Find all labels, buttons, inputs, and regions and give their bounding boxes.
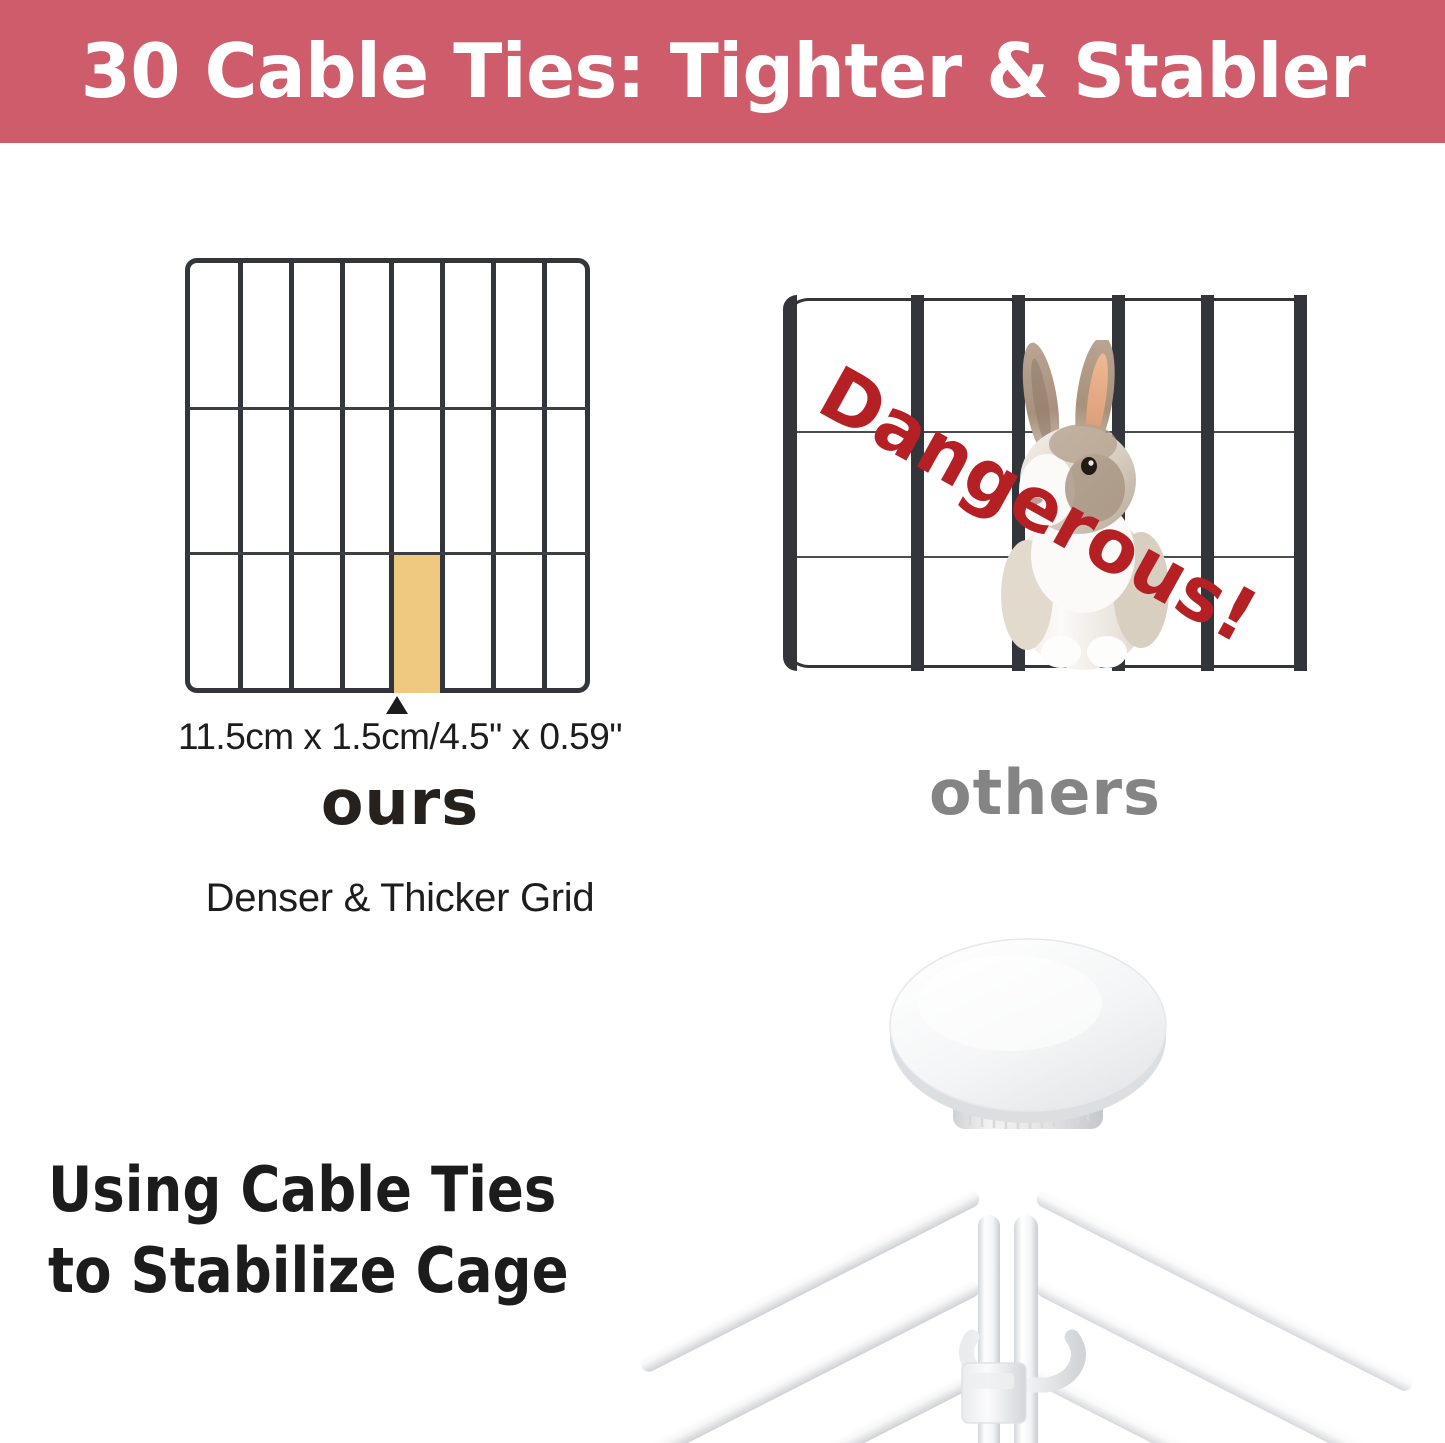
- ours-grid-hline: [188, 407, 587, 410]
- ours-grid-hline: [188, 552, 587, 555]
- up-triangle-arrow-icon: [386, 696, 408, 714]
- bottom-headline-line2: to Stabilize Cage: [48, 1231, 594, 1312]
- others-grid-vbar: [783, 295, 797, 671]
- cage-corner-illustration: [610, 925, 1445, 1443]
- bottom-headline-line1: Using Cable Ties: [48, 1150, 594, 1231]
- others-grid-vbar: [1294, 295, 1307, 671]
- ours-title-label: ours: [145, 772, 655, 834]
- ours-grid-diagram: [185, 258, 590, 693]
- top-banner: 30 Cable Ties: Tighter & Stabler: [0, 0, 1445, 143]
- ours-grid-vline: [491, 261, 496, 690]
- ours-grid-vline: [440, 261, 445, 690]
- ours-grid-vline: [289, 261, 294, 690]
- ours-grid-vline: [542, 261, 547, 690]
- ours-caption-label: Denser & Thicker Grid: [120, 876, 680, 920]
- ours-grid-vline: [340, 261, 345, 690]
- ours-grid-vline: [238, 261, 243, 690]
- cage-corner-photo: [610, 925, 1445, 1443]
- cage-left-rods: [638, 1188, 983, 1443]
- ours-dimensions-label: 11.5cm x 1.5cm/4.5" x 0.59": [145, 716, 655, 758]
- bottom-headline: Using Cable Ties to Stabilize Cage: [48, 1150, 594, 1311]
- ours-grid-highlight-cell: [394, 555, 440, 693]
- banner-title: 30 Cable Ties: Tighter & Stabler: [80, 34, 1364, 109]
- cage-right-rods: [1034, 1188, 1416, 1443]
- others-title-label: others: [780, 762, 1310, 824]
- others-grid-vbar: [1112, 295, 1125, 671]
- others-grid-diagram: Dangerous!: [783, 298, 1307, 668]
- cage-cap-disc: [890, 939, 1166, 1123]
